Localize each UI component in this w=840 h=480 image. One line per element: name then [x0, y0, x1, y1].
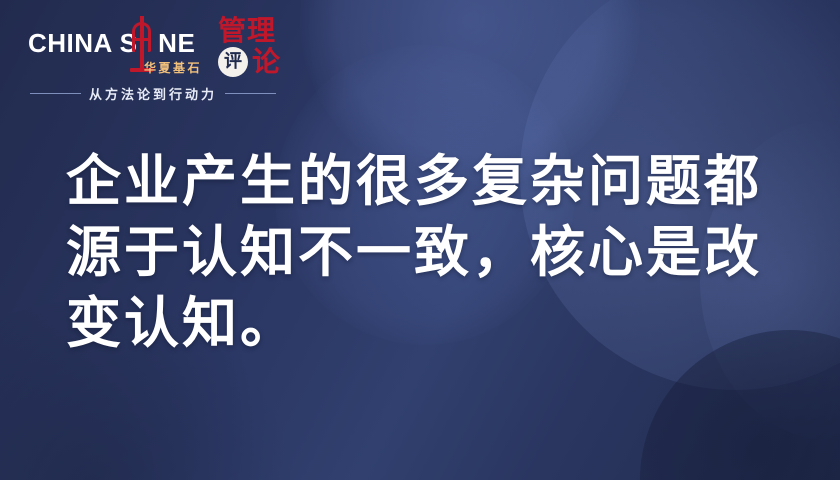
- tagline-rule-left: [30, 93, 81, 94]
- review-logo-circle: 评: [218, 47, 248, 77]
- review-logo-block: 管理 评 论: [218, 16, 290, 80]
- poster-canvas: CHINA SONE 华夏基石 管理 评 论 从方法论到行动力 企业产生的很多复…: [0, 0, 840, 480]
- tagline-rule-right: [225, 93, 276, 94]
- logo-english-part2: NE: [158, 28, 195, 58]
- logo-english-part1: CHINA S: [28, 28, 137, 58]
- headline-line: 源于认知不一致，核心是改: [66, 217, 806, 288]
- tagline-text: 从方法论到行动力: [89, 84, 217, 103]
- headline-block: 企业产生的很多复杂问题都 源于认知不一致，核心是改 变认知。: [66, 146, 806, 359]
- logo-english-wordmark: CHINA SONE: [28, 28, 195, 59]
- brand-tagline: 从方法论到行动力: [30, 84, 276, 103]
- stone-arch-stem: [140, 16, 144, 72]
- logo-chinese-name: 华夏基石: [144, 59, 202, 76]
- headline-line: 企业产生的很多复杂问题都: [66, 146, 806, 217]
- headline-line: 变认知。: [66, 288, 806, 359]
- review-logo-bottom: 论: [252, 47, 280, 77]
- logo-primary-row: CHINA SONE 华夏基石 管理 评 论: [28, 12, 278, 72]
- review-logo-top: 管理: [218, 16, 276, 46]
- brand-logo: CHINA SONE 华夏基石 管理 评 论 从方法论到行动力: [28, 12, 278, 98]
